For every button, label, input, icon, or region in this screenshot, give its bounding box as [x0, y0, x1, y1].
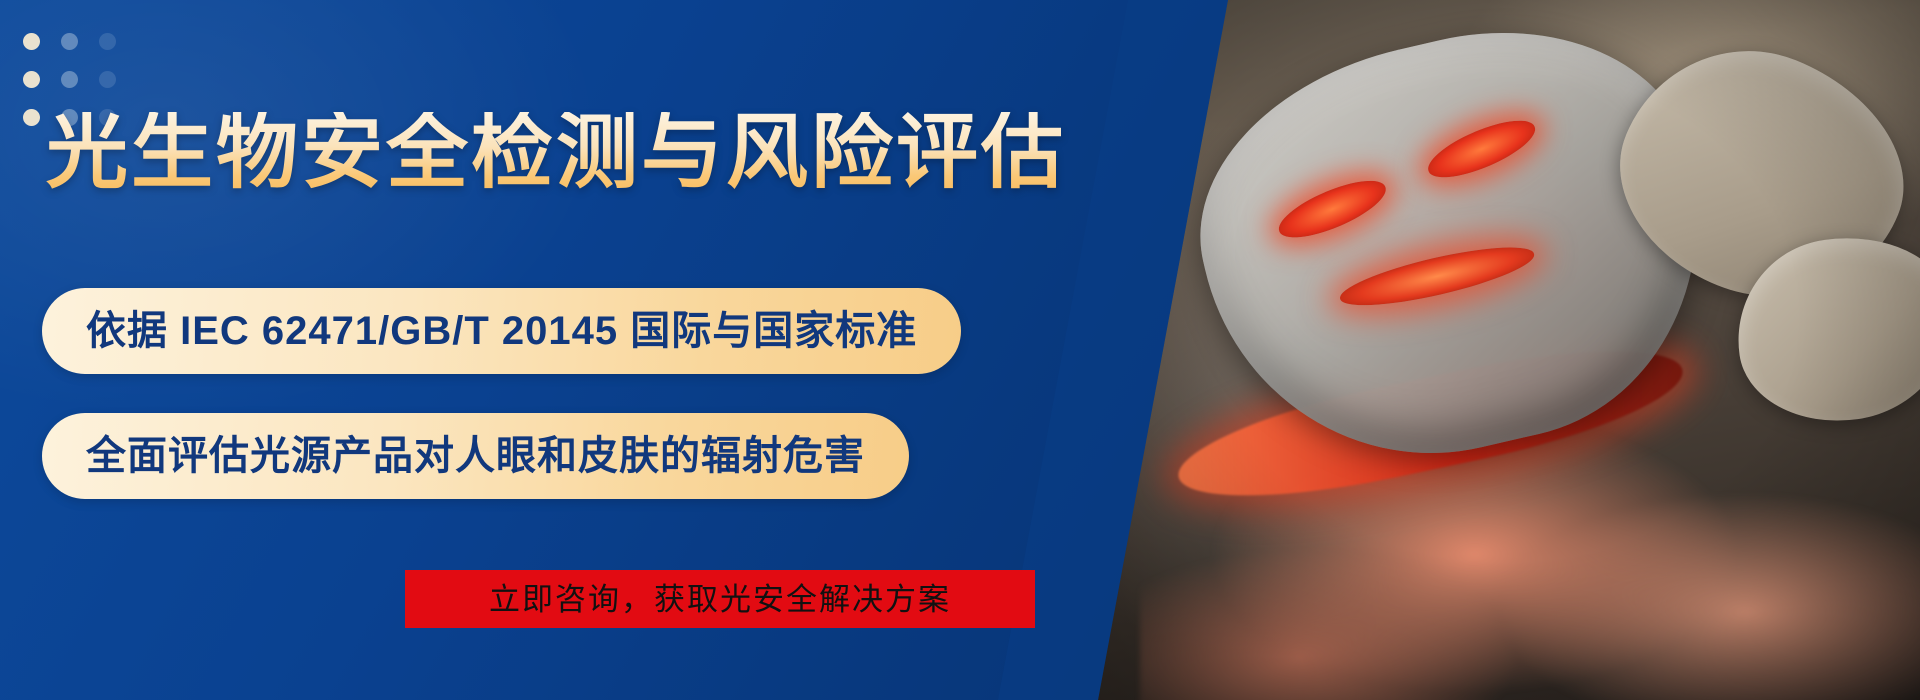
photo-vignette: [1090, 0, 1920, 700]
consult-cta-label: 立即咨询，获取光安全解决方案: [489, 584, 951, 615]
standards-pill-label: 依据 IEC 62471/GB/T 20145 国际与国家标准: [86, 311, 917, 351]
treatment-photo: [1090, 0, 1920, 700]
banner-headline: 光生物安全检测与风险评估: [46, 112, 1066, 194]
banner-content: 光生物安全检测与风险评估 依据 IEC 62471/GB/T 20145 国际与…: [0, 0, 1160, 700]
scope-pill: 全面评估光源产品对人眼和皮肤的辐射危害: [42, 413, 909, 499]
standards-pill: 依据 IEC 62471/GB/T 20145 国际与国家标准: [42, 288, 961, 374]
consult-cta-button[interactable]: 立即咨询，获取光安全解决方案: [405, 570, 1035, 628]
scope-pill-label: 全面评估光源产品对人眼和皮肤的辐射危害: [86, 436, 865, 476]
promo-banner: 光生物安全检测与风险评估 依据 IEC 62471/GB/T 20145 国际与…: [0, 0, 1920, 700]
